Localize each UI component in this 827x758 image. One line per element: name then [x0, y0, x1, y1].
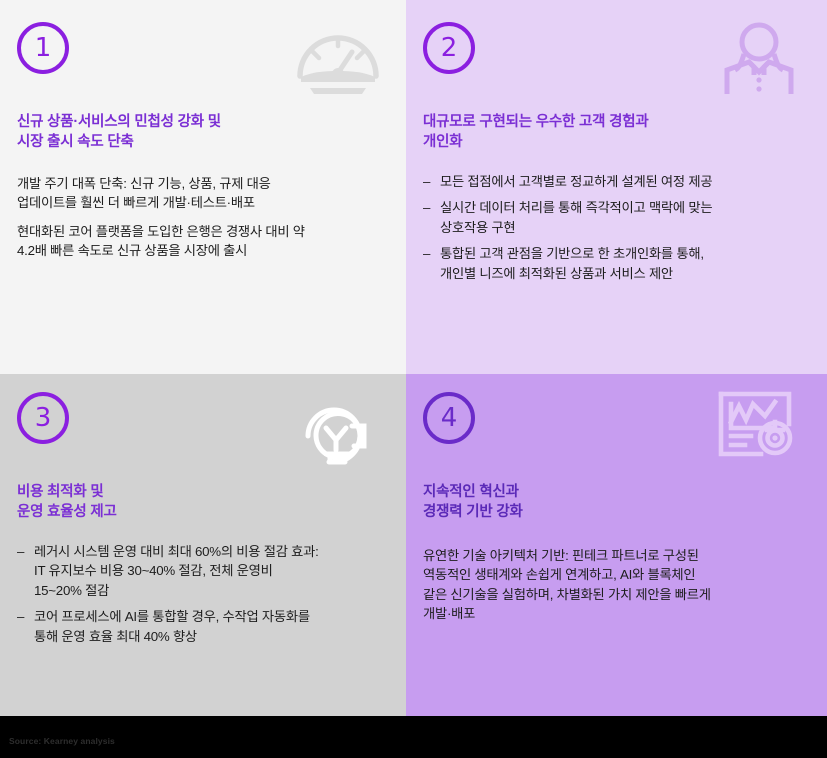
quadrant-body-3: –레거시 시스템 운영 대비 최대 60%의 비용 절감 효과: IT 유지보수…: [17, 542, 382, 646]
list-item: –코어 프로세스에 AI를 통합할 경우, 수작업 자동화를 통해 운영 효율 …: [17, 607, 382, 646]
quadrant-heading-1: 신규 상품·서비스의 민첩성 강화 및 시장 출시 속도 단축: [17, 112, 382, 152]
bullet-marker: –: [423, 172, 430, 191]
paragraph: 개발 주기 대폭 단축: 신규 기능, 상품, 규제 대응 업데이트를 훨씬 더…: [17, 174, 382, 213]
badge-number-3-label: 3: [35, 405, 52, 431]
list-item-text: 모든 접점에서 고객별로 정교하게 설계된 여정 제공: [440, 174, 712, 189]
quadrant-body-1: 개발 주기 대폭 단축: 신규 기능, 상품, 규제 대응 업데이트를 훨씬 더…: [17, 174, 382, 261]
badge-number-1-label: 1: [35, 35, 52, 61]
bullet-list-2: –모든 접점에서 고객별로 정교하게 설계된 여정 제공 –실시간 데이터 처리…: [423, 172, 803, 283]
paragraph: 유연한 기술 아키텍처 기반: 핀테크 파트너로 구성된 역동적인 생태계와 손…: [423, 546, 803, 624]
bullet-marker: –: [423, 198, 430, 217]
list-item: –통합된 고객 관점을 기반으로 한 초개인화를 통해, 개인별 니즈에 최적화…: [423, 244, 803, 283]
source-note: Source: Kearney analysis: [9, 736, 115, 746]
report-chart-target-icon: [709, 388, 801, 466]
badge-number-3: 3: [17, 392, 69, 444]
quadrant-heading-3: 비용 최적화 및 운영 효율성 제고: [17, 482, 382, 522]
bullet-list-3: –레거시 시스템 운영 대비 최대 60%의 비용 절감 효과: IT 유지보수…: [17, 542, 382, 646]
badge-number-2: 2: [423, 22, 475, 74]
bullet-marker: –: [423, 244, 430, 263]
list-item: –모든 접점에서 고객별로 정교하게 설계된 여정 제공: [423, 172, 803, 191]
badge-number-2-label: 2: [441, 35, 458, 61]
bullet-marker: –: [17, 607, 24, 626]
list-item-text: 실시간 데이터 처리를 통해 즉각적이고 맥락에 맞는 상호작용 구현: [440, 200, 712, 234]
list-item-text: 통합된 고객 관점을 기반으로 한 초개인화를 통해, 개인별 니즈에 최적화된…: [440, 246, 704, 280]
quadrant-grid: 1 신규 상품·서비스의 민첩: [0, 0, 827, 716]
quadrant-body-2: –모든 접점에서 고객별로 정교하게 설계된 여정 제공 –실시간 데이터 처리…: [423, 172, 803, 283]
list-item: –레거시 시스템 운영 대비 최대 60%의 비용 절감 효과: IT 유지보수…: [17, 542, 382, 600]
badge-number-1: 1: [17, 22, 69, 74]
quadrant-body-4: 유연한 기술 아키텍처 기반: 핀테크 파트너로 구성된 역동적인 생태계와 손…: [423, 546, 803, 624]
slide-footer: Source: Kearney analysis: [0, 716, 827, 758]
list-item: –실시간 데이터 처리를 통해 즉각적이고 맥락에 맞는 상호작용 구현: [423, 198, 803, 237]
quadrant-heading-4: 지속적인 혁신과 경쟁력 기반 강화: [423, 482, 803, 522]
quadrant-panel-3: 3 비용 최적화 및 운영 효율성 제고: [0, 374, 406, 716]
quadrant-heading-2: 대규모로 구현되는 우수한 고객 경험과 개인화: [423, 112, 803, 152]
list-item-text: 레거시 시스템 운영 대비 최대 60%의 비용 절감 효과: IT 유지보수 …: [34, 544, 319, 598]
bullet-marker: –: [17, 542, 24, 561]
slide-root: 1 신규 상품·서비스의 민첩: [0, 0, 827, 758]
paragraph: 현대화된 코어 플랫폼을 도입한 은행은 경쟁사 대비 약 4.2배 빠른 속도…: [17, 222, 382, 261]
badge-number-4: 4: [423, 392, 475, 444]
quadrant-panel-4: 4: [406, 374, 827, 716]
quadrant-panel-2: 2 대규모로 구현되는 우수한 고객 경험과: [406, 0, 827, 374]
badge-number-4-label: 4: [441, 405, 458, 431]
customer-representative-icon: [713, 20, 805, 98]
list-item-text: 코어 프로세스에 AI를 통합할 경우, 수작업 자동화를 통해 운영 효율 최…: [34, 609, 310, 643]
speedometer-gauge-icon: [292, 20, 384, 98]
quadrant-panel-1: 1 신규 상품·서비스의 민첩: [0, 0, 406, 374]
lightbulb-idea-icon: [290, 392, 382, 470]
